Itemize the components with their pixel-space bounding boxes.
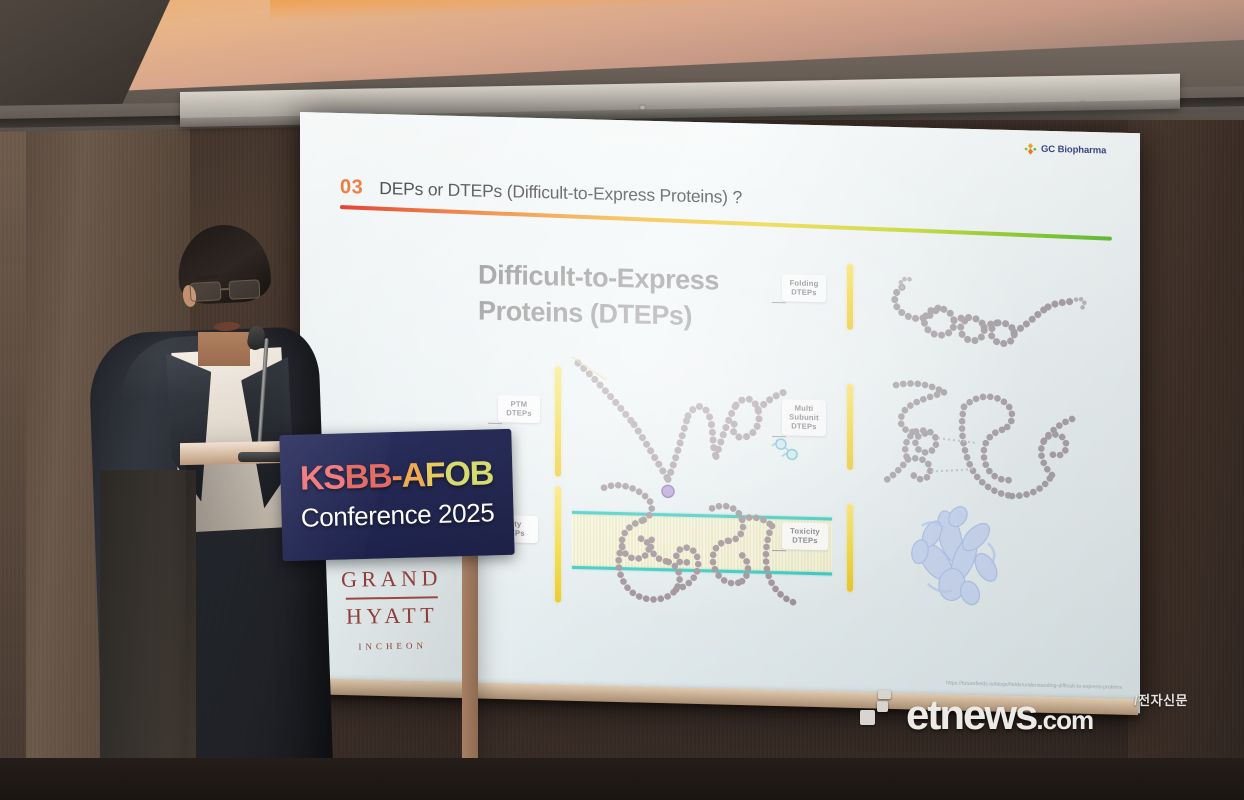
accent-bar-toxicity bbox=[847, 504, 853, 592]
conference-sign: KSBB-AFOB Conference 2025 bbox=[279, 429, 514, 561]
folding-protein-illustration bbox=[880, 269, 1100, 365]
etnews-tld: .com bbox=[1036, 705, 1093, 735]
etnews-wordmark: etnews.com bbox=[906, 694, 1093, 736]
label-line: DTEPs bbox=[787, 422, 821, 432]
glasses-bridge bbox=[221, 288, 229, 290]
etnews-watermark: etnews.com /전자신문 bbox=[860, 690, 1190, 752]
slide-header: 03 DEPs or DTEPs (Difficult-to-Express P… bbox=[340, 165, 1110, 228]
podium-side-shadow bbox=[100, 470, 196, 800]
accent-bar-ptm bbox=[555, 366, 561, 476]
speaker-glasses bbox=[190, 279, 265, 303]
etnews-korean-name: /전자신문 bbox=[1134, 690, 1188, 709]
hotel-name-line1: GRAND bbox=[302, 564, 480, 593]
accent-bar-multisubunit bbox=[847, 384, 853, 470]
hotel-branding: GRAND HYATT INCHEON bbox=[302, 564, 481, 652]
pixel-block bbox=[877, 701, 888, 712]
sign-part: F bbox=[424, 456, 445, 495]
slide-header-title: DEPs or DTEPs (Difficult-to-Express Prot… bbox=[379, 178, 742, 208]
sign-part: A bbox=[401, 456, 425, 495]
gc-biopharma-logo: GC Biopharma bbox=[1024, 142, 1136, 158]
label-multisubunit-dteps: Multi Subunit DTEPs bbox=[782, 399, 826, 436]
gc-diamond-icon bbox=[1024, 142, 1037, 155]
left-wall-strip bbox=[0, 118, 26, 800]
hotel-name-line2: HYATT bbox=[303, 601, 481, 630]
label-folding-dteps: Folding DTEPs bbox=[782, 274, 826, 302]
floor bbox=[0, 758, 1244, 800]
gc-biopharma-logo-text: GC Biopharma bbox=[1041, 144, 1106, 157]
pixel-block bbox=[878, 690, 891, 699]
pixel-block bbox=[860, 710, 875, 725]
slide-section-number: 03 bbox=[340, 176, 363, 200]
hotel-name-divider bbox=[346, 596, 438, 599]
microphone-base bbox=[238, 452, 284, 462]
conference-photo-scene: 03 DEPs or DTEPs (Difficult-to-Express P… bbox=[0, 0, 1244, 800]
multisubunit-protein-illustration bbox=[878, 375, 1088, 510]
glasses-lens-left bbox=[190, 281, 222, 302]
label-toxicity-dteps: Toxicity DTEPs bbox=[782, 522, 828, 550]
accent-bar-solubility bbox=[555, 486, 561, 602]
etnews-brand: etnews bbox=[906, 691, 1036, 738]
label-line: DTEPs bbox=[787, 287, 821, 297]
glasses-lens-right bbox=[228, 279, 260, 300]
toxicity-complex-illustration bbox=[892, 495, 1022, 623]
accent-bar-folding bbox=[847, 264, 853, 330]
sign-part: OB bbox=[444, 454, 494, 493]
pixel-blocks-icon bbox=[860, 692, 902, 732]
label-line: DTEPs bbox=[787, 535, 823, 545]
label-ptm-dteps: PTM DTEPs bbox=[498, 395, 540, 423]
slide-main-title: Difficult-to-Express Proteins (DTEPs) bbox=[478, 257, 808, 338]
label-line: DTEPs bbox=[503, 408, 535, 418]
